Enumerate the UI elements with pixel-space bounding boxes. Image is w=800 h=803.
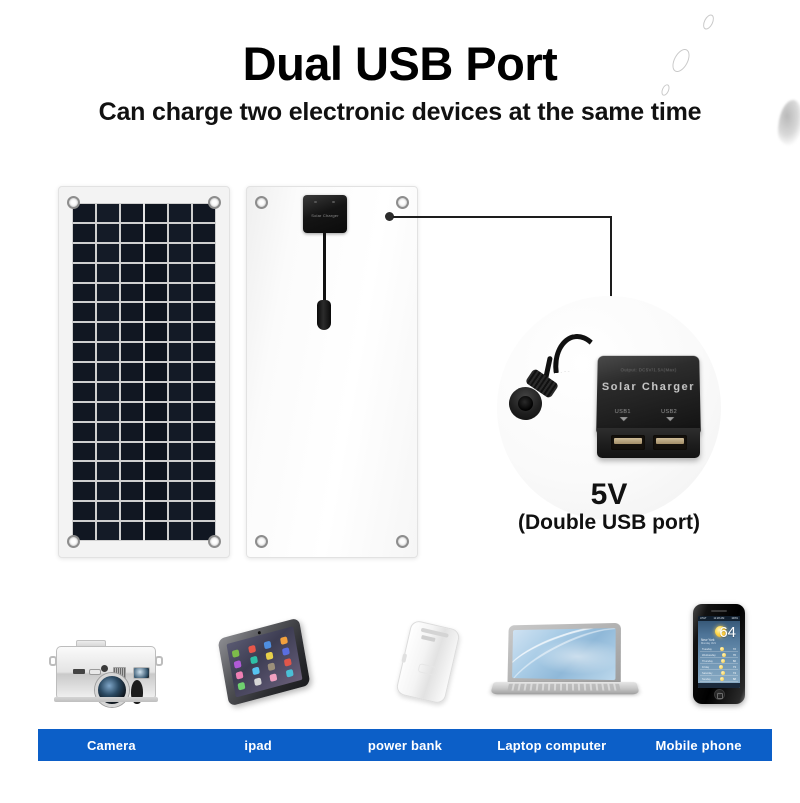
forecast-high: 72 <box>733 647 736 651</box>
ipad-app-icon <box>250 656 258 665</box>
ipad-app-icon <box>280 636 288 645</box>
charger-vent-icon <box>314 201 317 203</box>
solar-cell <box>97 303 119 321</box>
solar-cell <box>145 363 167 381</box>
solar-cell <box>145 403 167 421</box>
port-note-caption: (Double USB port) <box>467 511 751 535</box>
solar-cell <box>145 462 167 480</box>
forecast-sun-icon <box>722 653 726 657</box>
solar-cell <box>193 244 215 262</box>
solar-cell <box>145 383 167 401</box>
charger-brand-text: Solar Charger <box>597 381 700 393</box>
solar-cell <box>193 303 215 321</box>
device-label-camera: Camera <box>38 738 185 753</box>
solar-cell <box>193 462 215 480</box>
phone-screen: AT&T 11:28 AM 100% 64 New York Monday 3/… <box>698 616 740 688</box>
device-label-bar: Cameraipadpower bankLaptop computerMobil… <box>38 729 772 761</box>
solar-cell <box>97 403 119 421</box>
solar-cell <box>169 383 191 401</box>
watermark-oval-icon <box>701 13 716 31</box>
solar-cell <box>145 244 167 262</box>
solar-cell <box>121 323 143 341</box>
solar-cell <box>145 502 167 520</box>
ipad-app-icon <box>269 673 277 682</box>
attached-charger-box: Solar Charger <box>303 195 347 233</box>
power-bank-port-icon <box>421 635 436 642</box>
grommet-icon <box>255 196 268 209</box>
solar-cell <box>73 482 95 500</box>
solar-cell <box>145 224 167 242</box>
solar-cell <box>193 423 215 441</box>
solar-cell <box>145 264 167 282</box>
forecast-sun-icon <box>720 677 724 681</box>
solar-cell <box>169 303 191 321</box>
solar-cell <box>193 284 215 302</box>
solar-cell <box>73 224 95 242</box>
phone-home-button[interactable] <box>714 689 725 700</box>
solar-cell <box>169 403 191 421</box>
power-bank-logo-icon <box>418 663 438 676</box>
forecast-day: Tuesday <box>702 648 712 651</box>
grommet-icon <box>208 196 221 209</box>
solar-cell <box>97 423 119 441</box>
solar-cell <box>145 343 167 361</box>
solar-cell <box>73 403 95 421</box>
solar-cell <box>73 363 95 381</box>
grommet-icon <box>255 535 268 548</box>
solar-cell <box>97 224 119 242</box>
usb2-label: USB2 <box>661 409 677 415</box>
solar-cell <box>73 244 95 262</box>
ipad-app-icon <box>283 658 291 667</box>
page-title: Dual USB Port <box>0 36 800 91</box>
usb1-label: USB1 <box>615 409 631 415</box>
ipad-app-icon <box>264 641 272 650</box>
product-infographic: Dual USB Port Can charge two electronic … <box>0 0 800 803</box>
solar-cell <box>121 363 143 381</box>
solar-cell <box>97 323 119 341</box>
phone-carrier: AT&T <box>700 617 706 620</box>
solar-cell <box>169 363 191 381</box>
phone-battery: 100% <box>731 617 738 620</box>
solar-cell <box>193 224 215 242</box>
ipad-app-icon <box>248 645 256 654</box>
ipad-app-icon <box>285 669 293 678</box>
phone-status-bar: AT&T 11:28 AM 100% <box>698 616 740 621</box>
solar-charger-front-face <box>597 428 700 458</box>
solar-cell <box>169 443 191 461</box>
solar-cell <box>193 264 215 282</box>
ipad-app-grid <box>232 635 298 690</box>
solar-cell <box>97 522 119 540</box>
device-image-power-bank <box>383 620 475 704</box>
solar-cell <box>73 423 95 441</box>
solar-cell <box>121 284 143 302</box>
solar-cell <box>193 482 215 500</box>
solar-cell <box>145 303 167 321</box>
weather-forecast-row: Thursday66 <box>700 659 738 664</box>
device-label-mobile-phone: Mobile phone <box>625 738 772 753</box>
solar-cell <box>121 244 143 262</box>
solar-cell <box>169 323 191 341</box>
device-label-power-bank: power bank <box>332 738 479 753</box>
solar-cell <box>145 323 167 341</box>
solar-cell <box>121 443 143 461</box>
camera-shutter-icon <box>101 665 108 672</box>
solar-cell <box>97 244 119 262</box>
power-bank-body <box>395 619 461 704</box>
phone-body: AT&T 11:28 AM 100% 64 New York Monday 3/… <box>693 604 745 704</box>
solar-cell <box>193 443 215 461</box>
solar-cell <box>169 482 191 500</box>
solar-cell <box>121 423 143 441</box>
forecast-day: Thursday <box>702 660 713 663</box>
weather-forecast-row: Sunday68 <box>700 677 738 682</box>
ipad-app-icon <box>251 667 259 676</box>
camera-base-plate <box>54 697 158 702</box>
phone-dock-bar <box>698 683 740 688</box>
compatible-devices-row: AT&T 11:28 AM 100% 64 New York Monday 3/… <box>38 592 772 710</box>
solar-cell <box>97 284 119 302</box>
solar-cell <box>97 363 119 381</box>
page-subtitle: Can charge two electronic devices at the… <box>0 98 800 127</box>
usb-port-1-icon <box>611 435 645 450</box>
forecast-high: 68 <box>733 677 736 681</box>
solar-cell <box>169 224 191 242</box>
forecast-day: Wednesday <box>702 654 716 657</box>
solar-cell <box>169 462 191 480</box>
ipad-app-icon <box>236 671 244 680</box>
solar-cell <box>169 423 191 441</box>
solar-cell <box>97 343 119 361</box>
ipad-app-icon <box>267 662 275 671</box>
solar-cell <box>121 502 143 520</box>
camera-logo-icon <box>73 669 85 674</box>
weather-forecast-row: Friday73 <box>700 665 738 670</box>
ipad-frame <box>218 618 311 707</box>
solar-cell <box>73 462 95 480</box>
device-image-mobile-phone: AT&T 11:28 AM 100% 64 New York Monday 3/… <box>679 604 759 708</box>
weather-forecast-row: Wednesday70 <box>700 653 738 658</box>
laptop-keyboard-icon <box>507 684 620 691</box>
solar-cell <box>145 423 167 441</box>
camera-viewfinder-icon <box>133 667 150 679</box>
solar-cell <box>73 443 95 461</box>
phone-speaker-icon <box>711 610 727 612</box>
charger-cable <box>323 232 326 304</box>
weather-forecast-row: Saturday74 <box>700 671 738 676</box>
solar-cell <box>169 343 191 361</box>
usb2-arrow-icon <box>666 417 674 421</box>
phone-clock: 11:28 AM <box>714 617 725 620</box>
grommet-icon <box>208 535 221 548</box>
solar-cell <box>97 482 119 500</box>
forecast-day: Friday <box>702 666 709 669</box>
callout-leader-line <box>610 216 612 300</box>
solar-cell <box>193 403 215 421</box>
solar-cell <box>121 383 143 401</box>
solar-cell <box>97 502 119 520</box>
charger-spec-text: Output: DC5V/1.5A(Max) <box>597 367 699 372</box>
solar-cell <box>97 264 119 282</box>
ipad-app-icon <box>234 660 242 669</box>
solar-cell <box>73 303 95 321</box>
solar-cell <box>145 522 167 540</box>
solar-cell <box>121 343 143 361</box>
usb1-arrow-icon <box>620 417 628 421</box>
grommet-icon <box>67 535 80 548</box>
device-label-ipad: ipad <box>185 738 332 753</box>
solar-cell <box>121 482 143 500</box>
forecast-day: Sunday <box>702 678 711 681</box>
device-image-laptop <box>488 622 648 704</box>
solar-cell <box>121 224 143 242</box>
solar-cell <box>73 264 95 282</box>
ipad-camera-icon <box>257 630 260 634</box>
camera-body <box>56 646 156 700</box>
ipad-app-icon <box>237 682 245 691</box>
forecast-high: 73 <box>733 665 736 669</box>
grommet-icon <box>67 196 80 209</box>
camera-window-icon <box>89 669 101 675</box>
forecast-high: 70 <box>733 653 736 657</box>
solar-charger-body: Output: DC5V/1.5A(Max) Solar Charger USB… <box>596 356 701 434</box>
charger-vent-icon <box>332 201 335 203</box>
laptop-base <box>490 682 640 694</box>
solar-cell <box>193 363 215 381</box>
ipad-screen <box>226 626 302 697</box>
solar-cell <box>121 522 143 540</box>
solar-cell <box>121 204 143 222</box>
forecast-day: Saturday <box>702 672 712 675</box>
solar-cell <box>169 204 191 222</box>
callout-leader-line <box>393 216 612 218</box>
solar-cell <box>193 383 215 401</box>
solar-cell <box>121 403 143 421</box>
solar-cell <box>97 383 119 401</box>
solar-cell <box>193 343 215 361</box>
solar-busbar <box>143 203 145 541</box>
device-image-camera <box>46 634 166 704</box>
device-image-ipad <box>210 620 320 706</box>
solar-cell <box>169 264 191 282</box>
voltage-caption: 5V <box>497 478 721 512</box>
forecast-sun-icon <box>720 647 724 651</box>
solar-panel-back: Solar Charger <box>246 186 418 558</box>
solar-panel-front <box>58 186 230 558</box>
solar-cell <box>169 522 191 540</box>
ipad-app-icon <box>266 652 274 661</box>
forecast-high: 74 <box>733 671 736 675</box>
solar-cell <box>73 284 95 302</box>
dc-plug-icon <box>317 300 331 330</box>
forecast-sun-icon <box>721 659 725 663</box>
device-label-laptop: Laptop computer <box>478 738 625 753</box>
camera-strap-lug-icon <box>155 656 163 666</box>
solar-cell <box>193 502 215 520</box>
solar-cell <box>169 244 191 262</box>
usb-port-2-icon <box>653 435 687 450</box>
forecast-sun-icon <box>721 671 725 675</box>
dc-barrel-hole-icon <box>518 396 533 411</box>
ipad-app-icon <box>253 678 261 687</box>
weather-forecast-row: Tuesday72 <box>700 647 738 652</box>
solar-cell <box>145 284 167 302</box>
solar-cell <box>193 323 215 341</box>
ipad-app-icon <box>232 649 240 658</box>
power-bank-button-icon <box>401 653 407 663</box>
attached-charger-label: Solar Charger <box>303 213 347 218</box>
ipad-app-icon <box>281 647 289 656</box>
weather-temperature: 64 <box>719 625 736 640</box>
solar-cell <box>121 462 143 480</box>
solar-cell <box>145 482 167 500</box>
solar-cell <box>97 443 119 461</box>
solar-cell <box>169 502 191 520</box>
solar-cell <box>145 204 167 222</box>
solar-cell <box>121 303 143 321</box>
forecast-high: 66 <box>733 659 736 663</box>
solar-cell <box>73 343 95 361</box>
weather-date: Monday 3/21 <box>701 642 716 645</box>
solar-cell <box>145 443 167 461</box>
laptop-lid <box>507 623 620 686</box>
solar-cell <box>73 323 95 341</box>
solar-cell <box>169 284 191 302</box>
weather-forecast-list: Tuesday72Wednesday70Thursday66Friday73Sa… <box>700 647 738 682</box>
solar-cell <box>73 383 95 401</box>
solar-cell <box>97 462 119 480</box>
grommet-icon <box>396 196 409 209</box>
solar-cell <box>97 204 119 222</box>
solar-cell <box>73 502 95 520</box>
forecast-sun-icon <box>719 665 723 669</box>
solar-cell <box>121 264 143 282</box>
grommet-icon <box>396 535 409 548</box>
laptop-screen <box>512 628 616 680</box>
